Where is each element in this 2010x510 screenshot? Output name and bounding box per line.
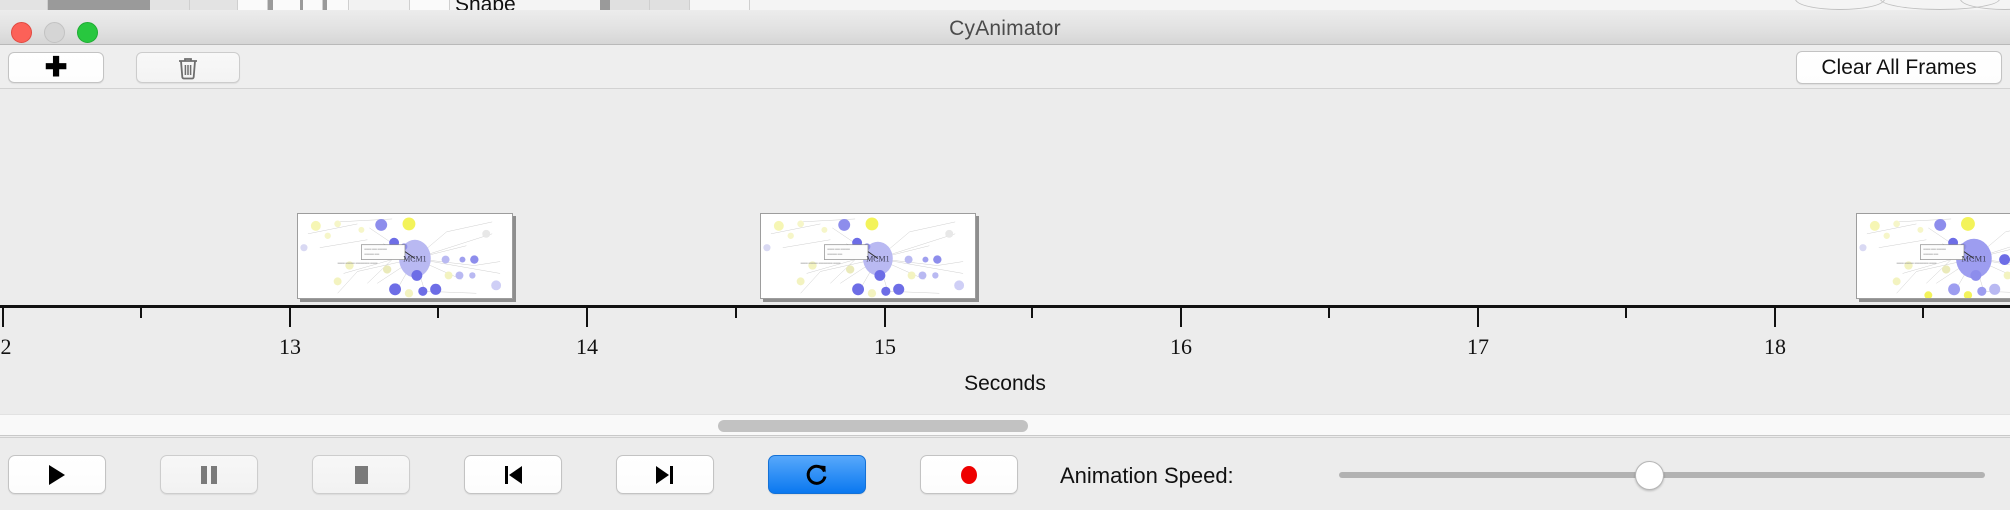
clear-all-frames-label: Clear All Frames xyxy=(1821,56,1976,80)
stop-icon xyxy=(350,463,372,487)
axis-tick-label: 15 xyxy=(874,334,896,360)
skip-to-start-button[interactable] xyxy=(464,455,562,494)
axis-tick-minor xyxy=(735,308,737,318)
svg-text:▬▬▬ ▬▬ ▬▬▬▬: ▬▬▬ ▬▬ ▬▬▬▬ xyxy=(1923,248,1946,251)
skip-back-icon xyxy=(501,463,525,487)
animation-speed-slider[interactable] xyxy=(1339,465,1985,485)
timeline-horizontal-scrollbar[interactable] xyxy=(0,414,2010,436)
axis-tick-minor xyxy=(1922,308,1924,318)
network-thumbnail-image: ▬▬▬ ▬▬ ▬▬▬▬ ▬▬▬▬ ▬▬ ▬▬▬ ▬▬▬▬ ▬▬▬▬▬▬ ▬▬▬ … xyxy=(298,214,512,299)
animation-speed-label: Animation Speed: xyxy=(1060,463,1234,489)
svg-text:▬▬▬ ▬▬▬▬ ▬▬▬▬▬▬ ▬▬▬: ▬▬▬ ▬▬▬▬ ▬▬▬▬▬▬ ▬▬▬ xyxy=(1897,262,1937,265)
play-button[interactable] xyxy=(8,455,106,494)
axis-tick-label: 2 xyxy=(1,334,12,360)
axis-tick-minor xyxy=(1031,308,1033,318)
plus-icon: ✚ xyxy=(45,54,68,81)
timeline-axis-line xyxy=(0,305,2010,308)
scrollbar-thumb[interactable] xyxy=(718,420,1028,432)
axis-tick-major xyxy=(884,308,886,327)
axis-tick-label: 16 xyxy=(1170,334,1192,360)
skip-to-end-button[interactable] xyxy=(616,455,714,494)
svg-text:▬▬▬ ▬▬▬▬ ▬▬▬▬▬▬ ▬▬▬: ▬▬▬ ▬▬▬▬ ▬▬▬▬▬▬ ▬▬▬ xyxy=(338,262,378,265)
record-button[interactable] xyxy=(920,455,1018,494)
svg-text:▬▬▬ ▬▬ ▬▬▬▬: ▬▬▬ ▬▬ ▬▬▬▬ xyxy=(364,248,387,251)
network-hub-label: MCM1 xyxy=(403,255,426,264)
playback-control-bar: Animation Speed: xyxy=(0,437,2010,510)
record-icon xyxy=(957,463,981,487)
axis-tick-label: 13 xyxy=(279,334,301,360)
frame-toolbar: ✚ Clear All Frames xyxy=(0,45,2010,89)
pause-icon xyxy=(198,463,220,487)
stop-button[interactable] xyxy=(312,455,410,494)
slider-thumb[interactable] xyxy=(1635,461,1664,490)
svg-text:▬▬▬▬ ▬▬: ▬▬▬▬ ▬▬ xyxy=(1923,253,1938,256)
axis-tick-label: 14 xyxy=(576,334,598,360)
cyanimator-window: Shape CyAnimator ✚ Clear All Frames xyxy=(0,0,2010,510)
title-bar: CyAnimator xyxy=(0,10,2010,45)
skip-forward-icon xyxy=(653,463,677,487)
axis-tick-major xyxy=(289,308,291,327)
timeline-frame-thumbnail[interactable]: ▬▬▬ ▬▬ ▬▬▬▬ ▬▬▬▬ ▬▬ ▬▬▬ ▬▬▬▬ ▬▬▬▬▬▬ ▬▬▬ … xyxy=(1856,213,2010,299)
axis-tick-major xyxy=(1774,308,1776,327)
timeline-frame-thumbnail[interactable]: ▬▬▬ ▬▬ ▬▬▬▬ ▬▬▬▬ ▬▬ ▬▬▬ ▬▬▬▬ ▬▬▬▬▬▬ ▬▬▬ … xyxy=(760,213,976,299)
trash-icon xyxy=(177,56,199,80)
network-hub-label: MCM1 xyxy=(866,255,889,264)
delete-frame-button[interactable] xyxy=(136,52,240,83)
play-icon xyxy=(46,463,68,487)
pause-button[interactable] xyxy=(160,455,258,494)
clear-all-frames-button[interactable]: Clear All Frames xyxy=(1796,51,2002,84)
axis-tick-major xyxy=(2,308,4,327)
network-hub-label: MCM1 xyxy=(1962,254,1987,264)
background-window-strip: Shape xyxy=(0,0,2010,10)
svg-text:▬▬▬ ▬▬ ▬▬▬▬: ▬▬▬ ▬▬ ▬▬▬▬ xyxy=(827,248,850,251)
svg-text:▬▬▬▬ ▬▬: ▬▬▬▬ ▬▬ xyxy=(364,253,379,256)
axis-tick-minor xyxy=(140,308,142,318)
network-thumbnail-image: ▬▬▬ ▬▬ ▬▬▬▬ ▬▬▬▬ ▬▬ ▬▬▬ ▬▬▬▬ ▬▬▬▬▬▬ ▬▬▬ … xyxy=(761,214,975,299)
window-title: CyAnimator xyxy=(0,17,2010,41)
loop-icon xyxy=(804,462,830,488)
svg-text:▬▬▬▬ ▬▬: ▬▬▬▬ ▬▬ xyxy=(827,253,842,256)
svg-text:▬▬▬ ▬▬▬▬ ▬▬▬▬▬▬ ▬▬▬: ▬▬▬ ▬▬▬▬ ▬▬▬▬▬▬ ▬▬▬ xyxy=(801,262,841,265)
timeline-frame-thumbnail[interactable]: ▬▬▬ ▬▬ ▬▬▬▬ ▬▬▬▬ ▬▬ ▬▬▬ ▬▬▬▬ ▬▬▬▬▬▬ ▬▬▬ … xyxy=(297,213,513,299)
axis-tick-minor xyxy=(1625,308,1627,318)
background-window-label: Shape xyxy=(455,0,516,10)
axis-tick-minor xyxy=(1328,308,1330,318)
axis-tick-label: 18 xyxy=(1764,334,1786,360)
axis-tick-label: 17 xyxy=(1467,334,1489,360)
timeline-content: ▬▬▬ ▬▬ ▬▬▬▬ ▬▬▬▬ ▬▬ ▬▬▬ ▬▬▬▬ ▬▬▬▬▬▬ ▬▬▬ … xyxy=(0,89,2010,414)
axis-tick-major xyxy=(1477,308,1479,327)
network-thumbnail-image: ▬▬▬ ▬▬ ▬▬▬▬ ▬▬▬▬ ▬▬ ▬▬▬ ▬▬▬▬ ▬▬▬▬▬▬ ▬▬▬ … xyxy=(1857,214,2010,299)
axis-tick-major xyxy=(586,308,588,327)
add-frame-button[interactable]: ✚ xyxy=(8,52,104,83)
axis-title: Seconds xyxy=(0,372,2010,396)
timeline-panel[interactable]: ▬▬▬ ▬▬ ▬▬▬▬ ▬▬▬▬ ▬▬ ▬▬▬ ▬▬▬▬ ▬▬▬▬▬▬ ▬▬▬ … xyxy=(0,89,2010,414)
axis-tick-minor xyxy=(437,308,439,318)
axis-tick-major xyxy=(1180,308,1182,327)
loop-button[interactable] xyxy=(768,455,866,494)
